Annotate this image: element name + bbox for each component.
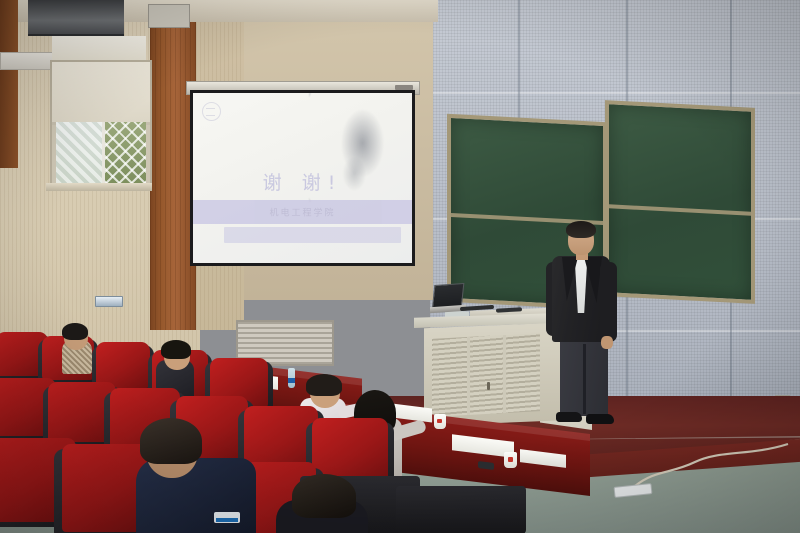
presenter-leg-split	[583, 344, 586, 414]
slide-subtitle-text: 机电工程学院	[193, 205, 412, 218]
ac-grille	[148, 4, 190, 28]
presenter-hair	[566, 221, 596, 238]
wood-trim-left	[0, 0, 18, 168]
blackboard-panel-right[interactable]	[605, 100, 755, 304]
attendee-badge-stripe	[216, 518, 238, 522]
paper-cup-icon	[434, 414, 446, 429]
window-valance	[52, 36, 146, 62]
presenter-shoe	[556, 412, 582, 422]
attendee-hair	[62, 323, 88, 340]
seat-armrest	[396, 486, 526, 533]
water-bottle-icon	[288, 368, 295, 388]
slide-color-band: 机电工程学院	[193, 200, 412, 224]
projection-screen: 谢 谢! 机电工程学院	[190, 90, 415, 266]
lecture-hall-photo: 谢 谢! 机电工程学院	[0, 0, 800, 533]
air-conditioner-icon	[28, 0, 124, 36]
attendee-hair	[140, 418, 202, 464]
louvered-doors-icon[interactable]	[432, 333, 540, 417]
attendee-hair	[306, 374, 342, 396]
wall-speaker-icon	[95, 296, 123, 307]
presenter-arm	[600, 262, 617, 342]
lattice-grille-icon	[105, 122, 146, 183]
attendee-hair	[161, 340, 191, 359]
projected-slide: 谢 谢! 机电工程学院	[193, 93, 412, 263]
window-sill	[46, 183, 152, 191]
frosted-pane	[56, 122, 103, 183]
slide-thanks-text: 谢 谢!	[193, 168, 412, 195]
attendee-hair	[292, 474, 356, 518]
presenter-shoe	[586, 414, 614, 424]
side-window	[50, 60, 152, 189]
cabinet-handle-icon[interactable]	[487, 382, 490, 390]
window-mullion	[102, 122, 105, 183]
blackboard-divider	[609, 204, 751, 215]
extension-cable-icon	[600, 440, 790, 490]
university-seal-icon	[202, 102, 221, 121]
roller-blind[interactable]	[52, 62, 150, 125]
slide-footer-bar	[224, 227, 401, 242]
presenter-hand	[601, 336, 613, 349]
paper-cup-icon	[504, 452, 517, 468]
window-glass	[56, 122, 146, 183]
